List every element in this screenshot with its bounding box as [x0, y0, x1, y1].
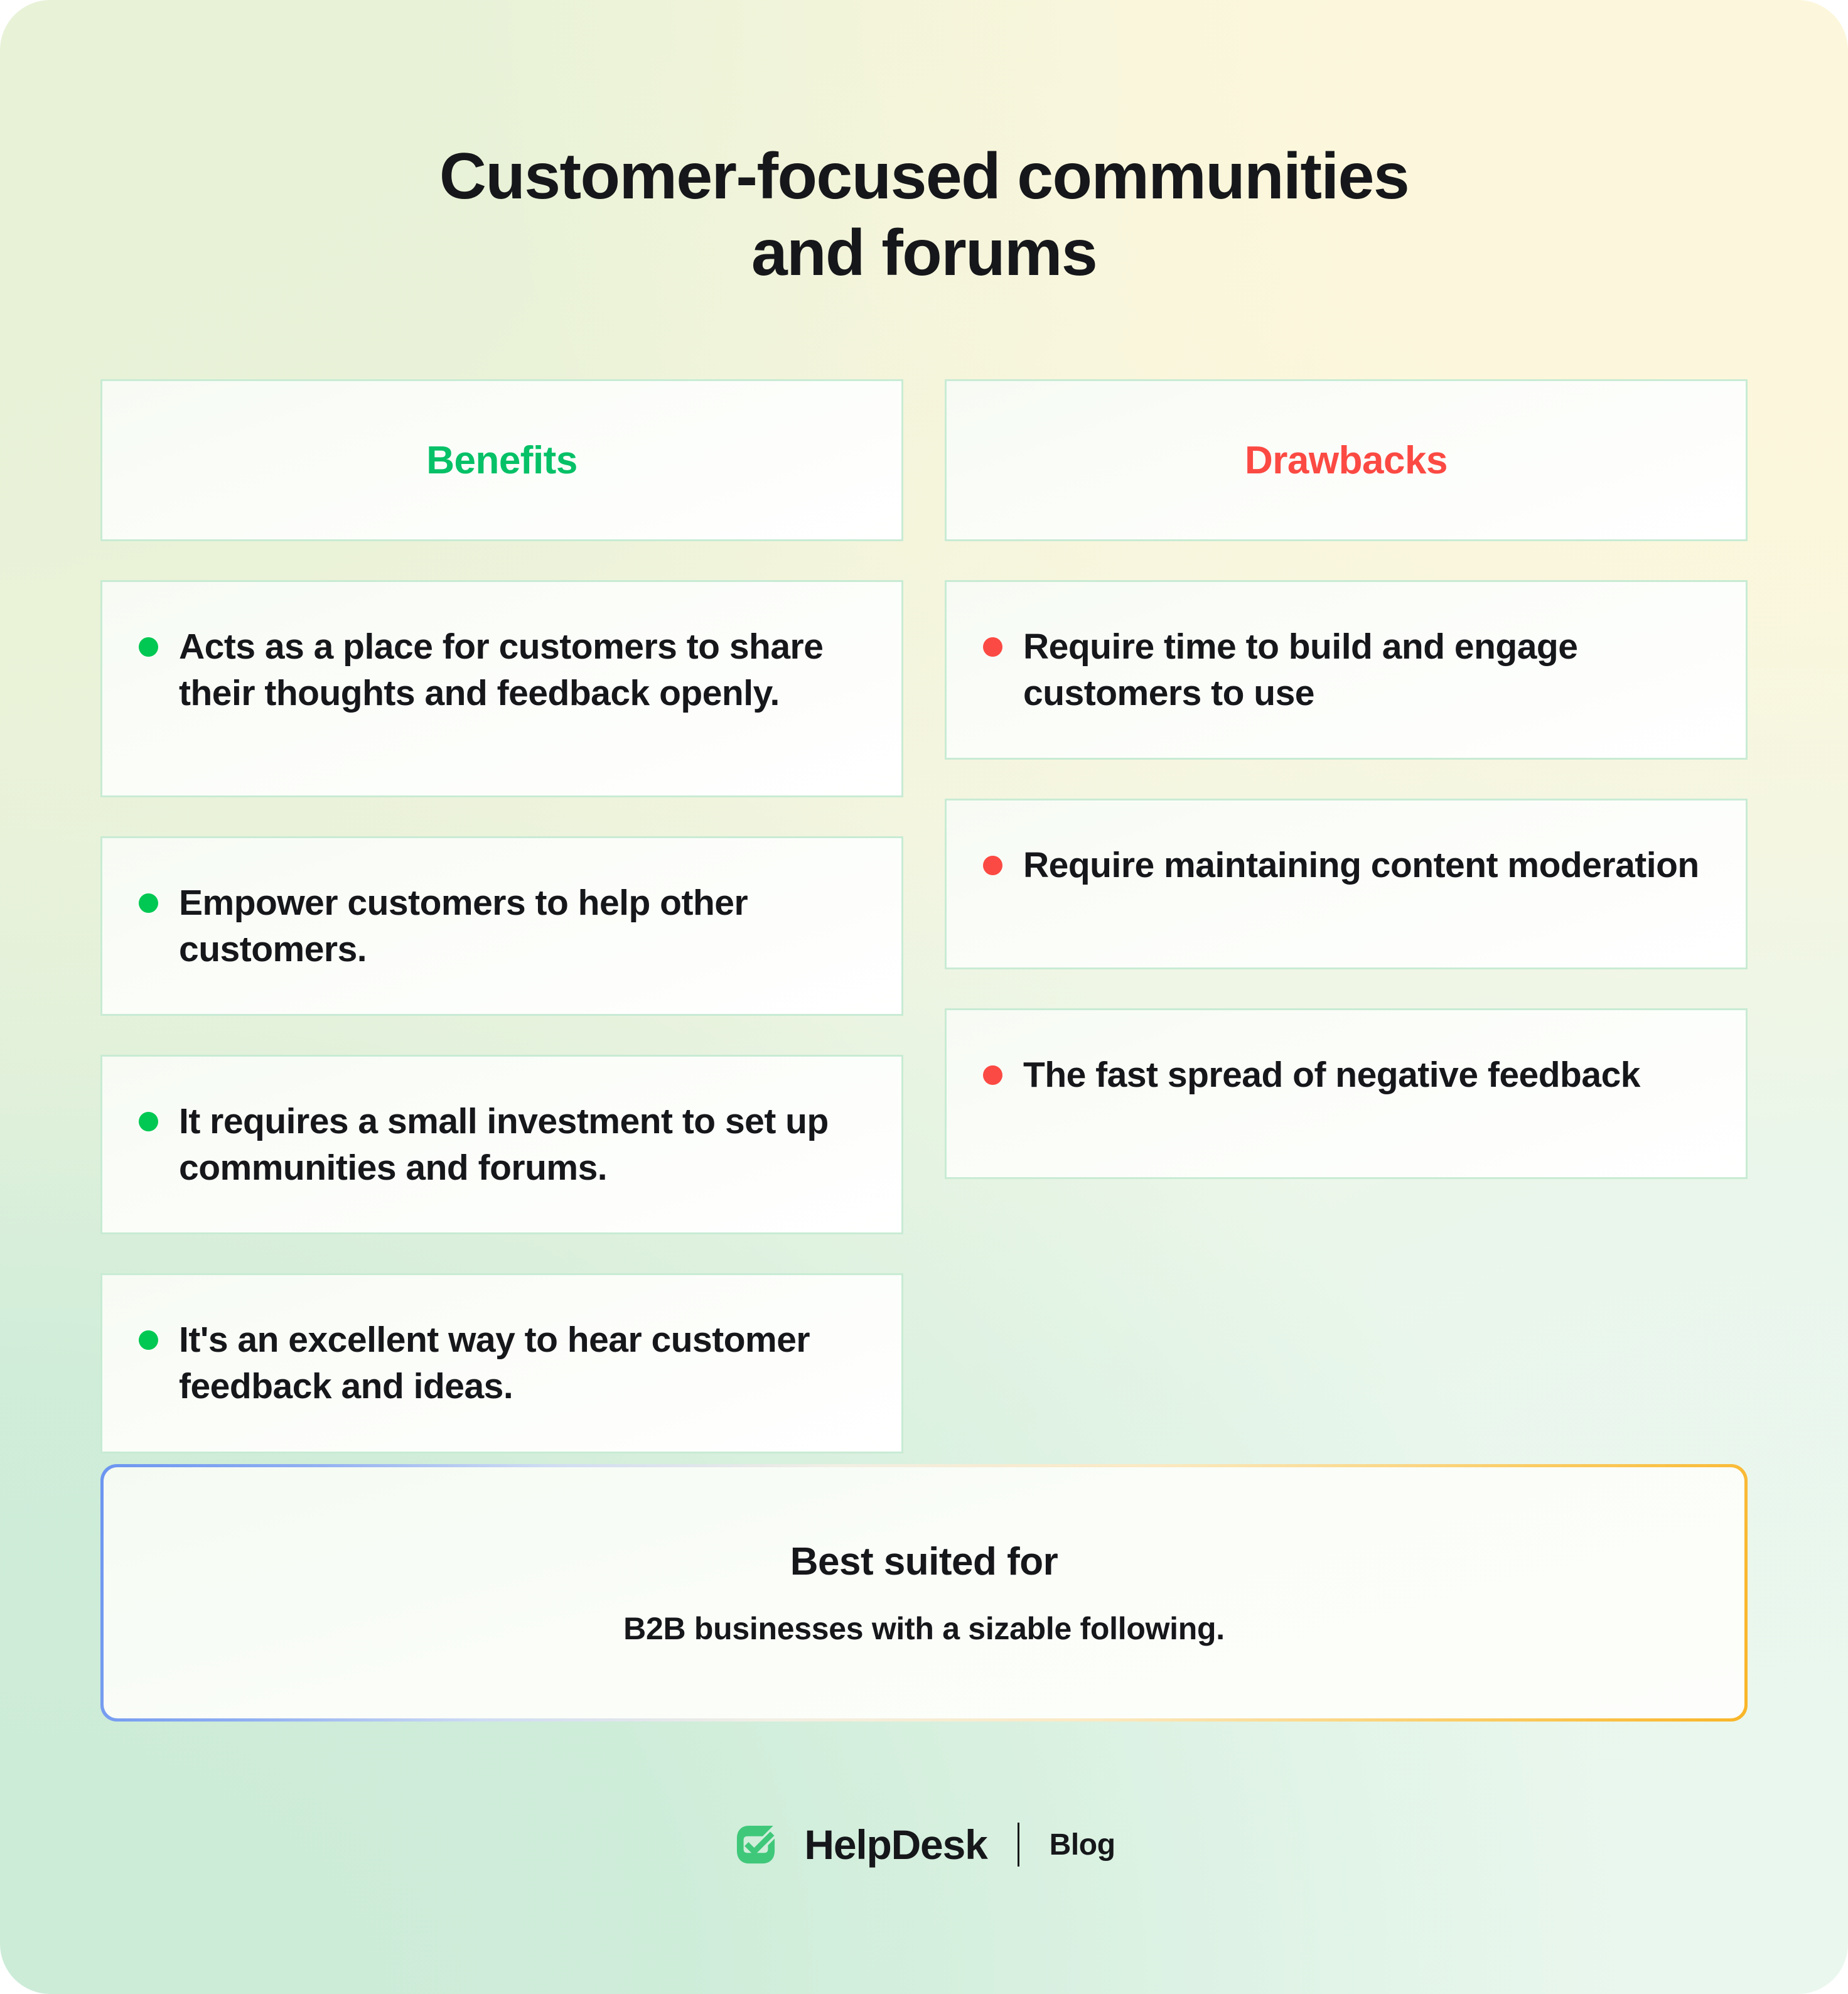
benefit-item-4: It's an excellent way to hear customer f…	[100, 1273, 903, 1453]
benefit-item-3: It requires a small investment to set up…	[100, 1055, 903, 1234]
bullet-dot-icon	[139, 1112, 158, 1131]
best-suited-card: Best suited for B2B businesses with a si…	[100, 1464, 1748, 1722]
drawbacks-header-card: Drawbacks	[945, 379, 1748, 541]
benefit-item-2: Empower customers to help other customer…	[100, 836, 903, 1016]
best-suited-inner: Best suited for B2B businesses with a si…	[104, 1467, 1744, 1718]
drawback-item-1-text: Require time to build and engage custome…	[1023, 623, 1708, 716]
drawback-item-3: The fast spread of negative feedback	[945, 1008, 1748, 1179]
benefit-item-1-text: Acts as a place for customers to share t…	[179, 623, 864, 716]
benefit-item-3-text: It requires a small investment to set up…	[179, 1098, 864, 1191]
drawback-item-2-text: Require maintaining content moderation	[1023, 842, 1699, 888]
footer-divider	[1018, 1823, 1019, 1867]
drawbacks-heading: Drawbacks	[1245, 438, 1448, 483]
footer: HelpDesk Blog	[0, 1821, 1848, 1868]
page-title-line-1: Customer-focused communities	[439, 140, 1409, 213]
drawback-item-2: Require maintaining content moderation	[945, 799, 1748, 969]
benefits-header-card: Benefits	[100, 379, 903, 541]
benefit-item-2-text: Empower customers to help other customer…	[179, 880, 864, 973]
best-suited-description: B2B businesses with a sizable following.	[623, 1610, 1225, 1647]
bullet-dot-icon	[983, 856, 1002, 875]
drawbacks-column: Drawbacks Require time to build and enga…	[945, 379, 1748, 1453]
benefit-item-4-text: It's an excellent way to hear customer f…	[179, 1317, 864, 1409]
bullet-dot-icon	[139, 1330, 158, 1350]
comparison-columns: Benefits Acts as a place for customers t…	[100, 379, 1748, 1453]
benefit-item-1: Acts as a place for customers to share t…	[100, 580, 903, 797]
bullet-dot-icon	[139, 893, 158, 913]
drawback-item-1: Require time to build and engage custome…	[945, 580, 1748, 760]
bullet-dot-icon	[983, 637, 1002, 657]
best-suited-title: Best suited for	[790, 1539, 1058, 1584]
drawback-item-3-text: The fast spread of negative feedback	[1023, 1052, 1640, 1098]
bullet-dot-icon	[983, 1065, 1002, 1085]
infographic-canvas: Customer-focused communities and forums …	[0, 0, 1848, 1994]
page-title-line-2: and forums	[751, 217, 1097, 289]
page-title: Customer-focused communities and forums	[0, 138, 1848, 292]
benefits-column: Benefits Acts as a place for customers t…	[100, 379, 903, 1453]
bullet-dot-icon	[139, 637, 158, 657]
footer-section-label: Blog	[1050, 1828, 1115, 1862]
benefits-heading: Benefits	[426, 438, 577, 483]
helpdesk-checkmark-icon	[733, 1821, 779, 1868]
brand-name: HelpDesk	[804, 1821, 987, 1868]
